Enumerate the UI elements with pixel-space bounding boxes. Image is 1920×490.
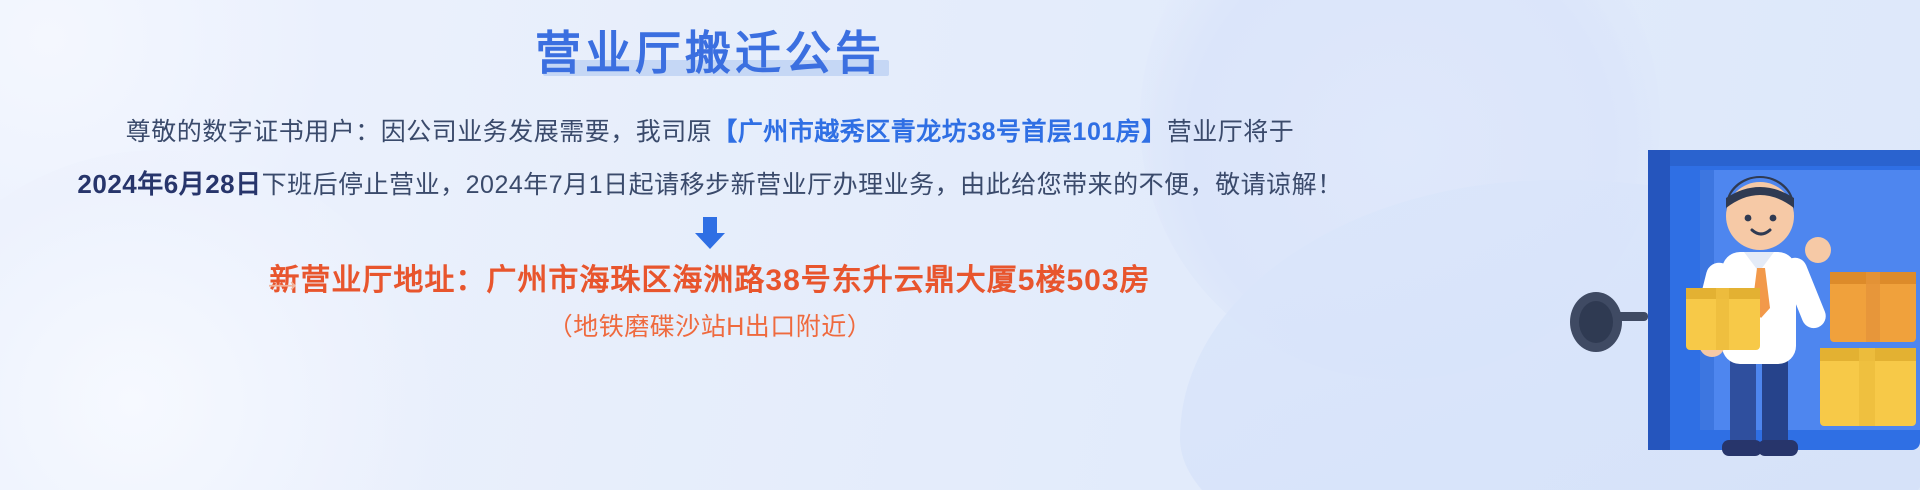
announcement-content: 营业厅搬迁公告 尊敬的数字证书用户：因公司业务发展需要，我司原【广州市越秀区青龙… [0, 0, 1420, 490]
body-line-1-prefix: 尊敬的数字证书用户：因公司业务发展需要，我司原 [126, 118, 713, 146]
relocation-announcement-banner: 营业厅搬迁公告 尊敬的数字证书用户：因公司业务发展需要，我司原【广州市越秀区青龙… [0, 0, 1920, 490]
body-line-1: 尊敬的数字证书用户：因公司业务发展需要，我司原【广州市越秀区青龙坊38号首层10… [0, 106, 1420, 158]
new-address-note: （地铁磨碟沙站H出口附近） [0, 307, 1420, 343]
arrow-down-icon [0, 215, 1420, 253]
body-line-2-rest: 下班后停止营业，2024年7月1日起请移步新营业厅办理业务，由此给您带来的不便，… [262, 171, 1343, 199]
small-arrow-icon: ⟶ [268, 273, 295, 298]
announcement-body: 尊敬的数字证书用户：因公司业务发展需要，我司原【广州市越秀区青龙坊38号首层10… [0, 106, 1420, 211]
moving-truck-illustration [1400, 0, 1920, 490]
page-title: 营业厅搬迁公告 [535, 28, 885, 80]
body-line-2: 2024年6月28日下班后停止营业，2024年7月1日起请移步新营业厅办理业务，… [0, 158, 1420, 211]
title-text: 营业厅搬迁公告 [535, 28, 885, 80]
new-address-row: ⟶ 新营业厅地址：广州市海珠区海洲路38号东升云鼎大厦5楼503房 （地铁磨碟沙… [0, 255, 1420, 343]
body-line-1-suffix: 营业厅将于 [1167, 118, 1295, 146]
closing-date: 2024年6月28日 [77, 169, 261, 199]
old-address-highlight: 【广州市越秀区青龙坊38号首层101房】 [712, 118, 1167, 146]
new-address-text: 新营业厅地址：广州市海珠区海洲路38号东升云鼎大厦5楼503房 [0, 255, 1420, 299]
